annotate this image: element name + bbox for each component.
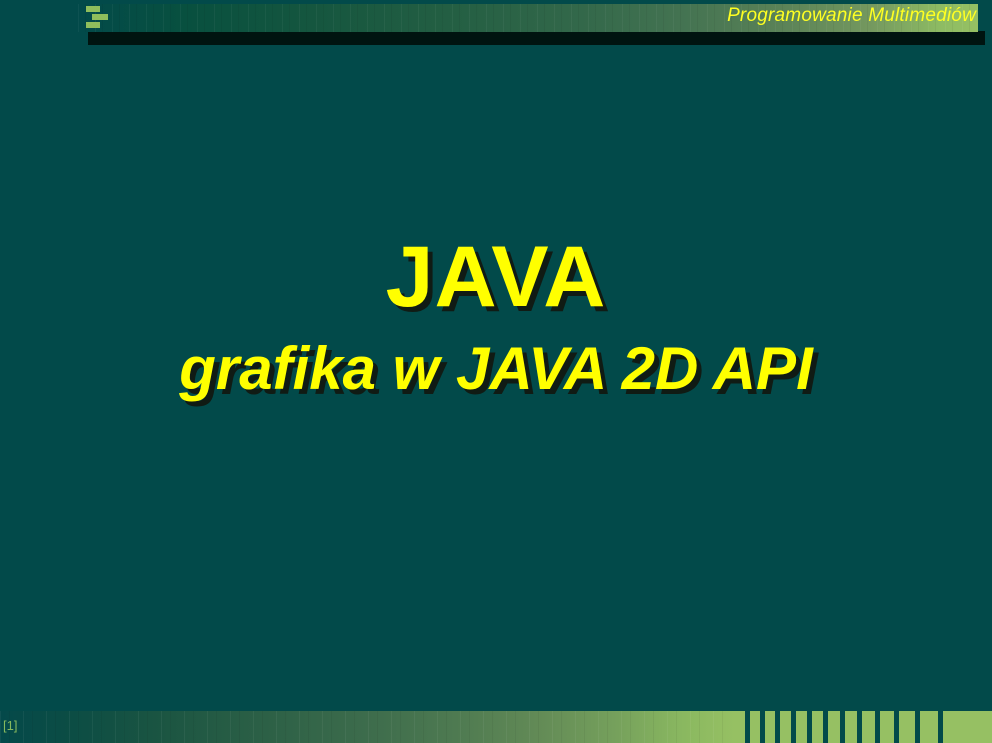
footer-stripe — [880, 711, 894, 743]
footer-stripe — [845, 711, 857, 743]
footer-stripe — [943, 711, 992, 743]
footer-stripe — [765, 711, 775, 743]
footer-stripe — [780, 711, 791, 743]
presentation-slide: Programowanie Multimediów JAVA grafika w… — [0, 0, 992, 743]
footer-stripe — [796, 711, 807, 743]
header-shadow-strip — [88, 31, 985, 45]
footer-stripe — [735, 711, 745, 743]
logo-block-bottom — [86, 22, 100, 28]
title-block: JAVA grafika w JAVA 2D API — [0, 232, 992, 402]
slide-subtitle: grafika w JAVA 2D API — [0, 337, 992, 402]
footer-bar: [1] — [0, 711, 992, 743]
slide-title: JAVA — [0, 232, 992, 323]
footer-stripe — [828, 711, 840, 743]
course-title: Programowanie Multimediów — [727, 5, 976, 27]
footer-stripe — [750, 711, 760, 743]
page-number: [1] — [3, 718, 17, 733]
footer-stripe-group — [735, 711, 992, 743]
logo-block-middle — [92, 14, 108, 20]
footer-stripe — [920, 711, 938, 743]
footer-stripe — [812, 711, 823, 743]
footer-stripe — [899, 711, 915, 743]
stepped-blocks-logo-icon — [86, 5, 116, 29]
footer-gradient-band — [0, 711, 735, 743]
footer-stripe — [862, 711, 875, 743]
logo-block-top — [86, 6, 100, 12]
